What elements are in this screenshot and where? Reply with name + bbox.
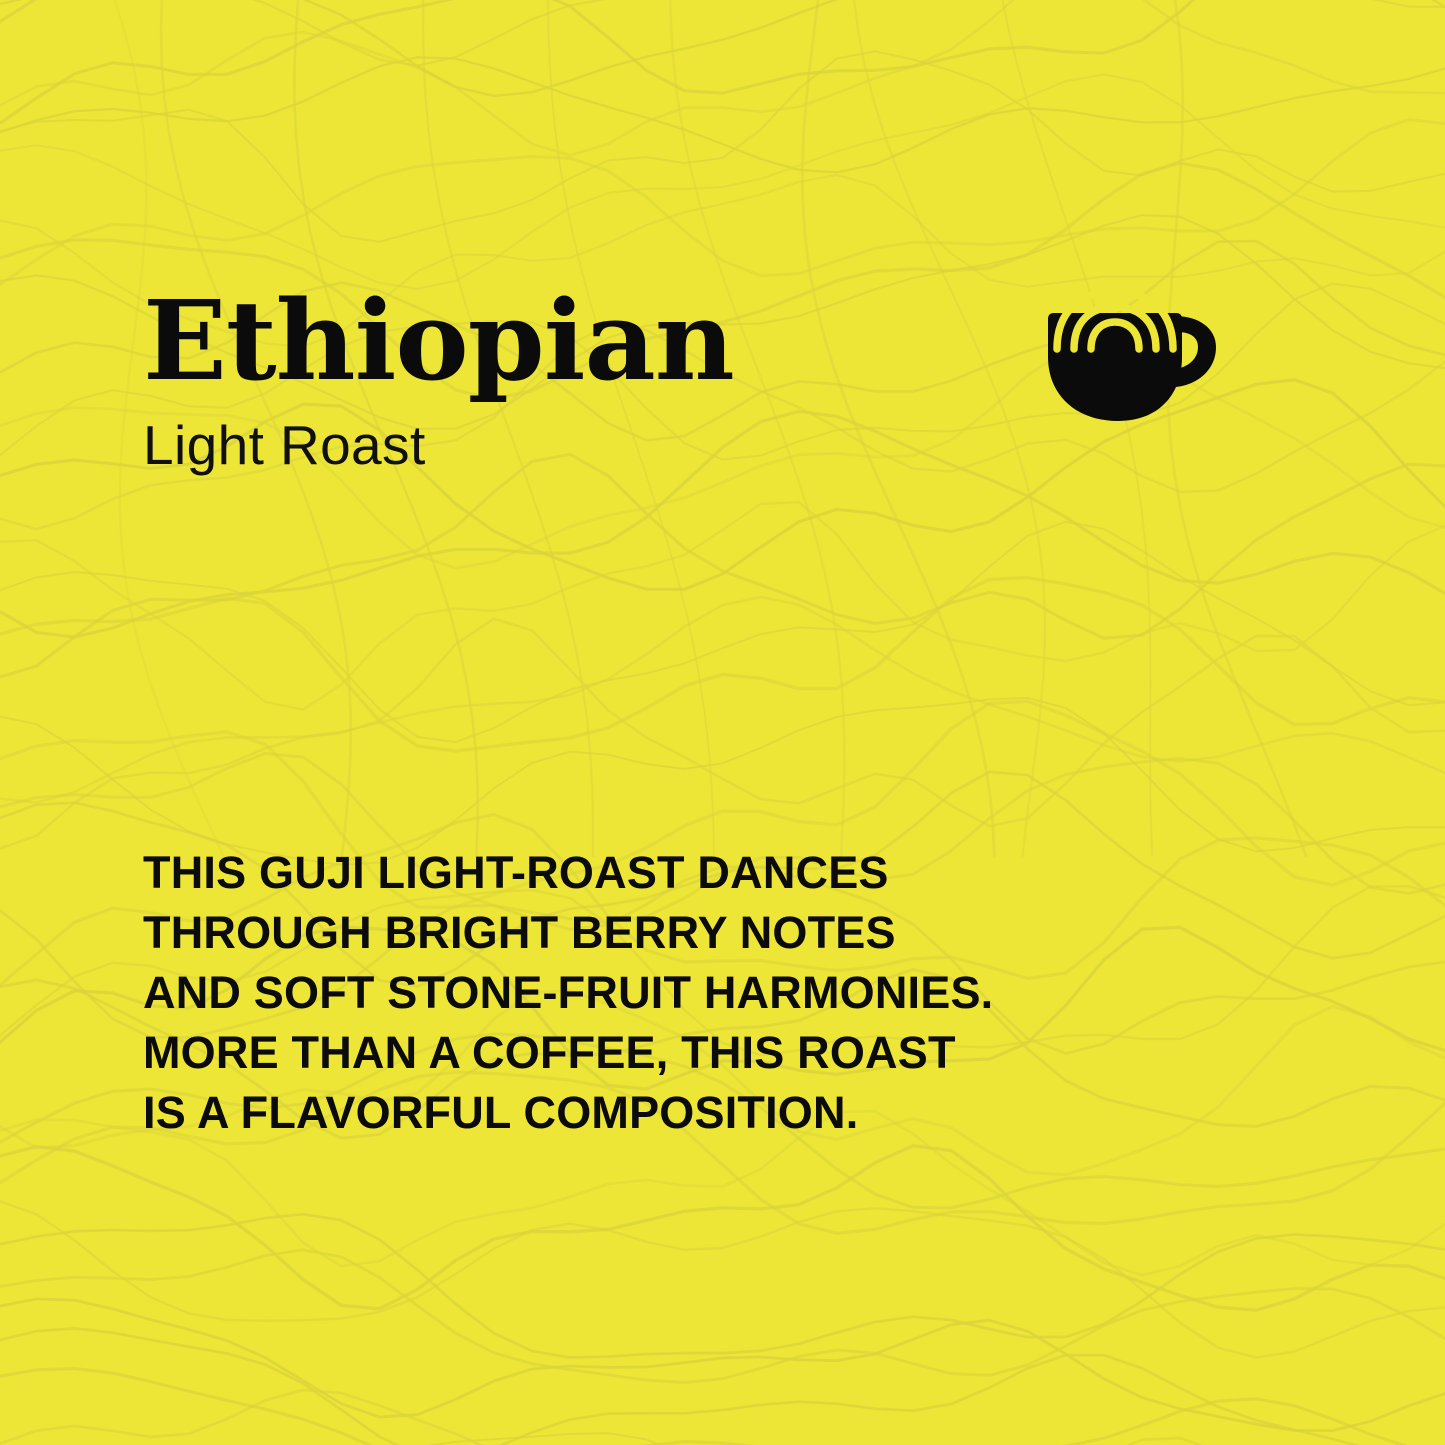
- coffee-cup-latte-art-icon: [1040, 283, 1220, 428]
- description-line: AND SOFT STONE-FRUIT HARMONIES.: [143, 963, 1123, 1023]
- roast-level-subtitle: Light Roast: [143, 418, 734, 473]
- description-line: THIS GUJI LIGHT-ROAST DANCES: [143, 843, 1123, 903]
- header-text-block: Ethiopian Light Roast: [143, 286, 734, 473]
- page-title: Ethiopian: [143, 286, 734, 396]
- description-line: THROUGH BRIGHT BERRY NOTES: [143, 903, 1123, 963]
- description-block: THIS GUJI LIGHT-ROAST DANCES THROUGH BRI…: [143, 843, 1123, 1143]
- coffee-product-card: Ethiopian Light Roast THIS GUJI LIGHT-RO…: [0, 0, 1445, 1445]
- description-line: IS A FLAVORFUL COMPOSITION.: [143, 1083, 1123, 1143]
- description-line: MORE THAN A COFFEE, THIS ROAST: [143, 1023, 1123, 1083]
